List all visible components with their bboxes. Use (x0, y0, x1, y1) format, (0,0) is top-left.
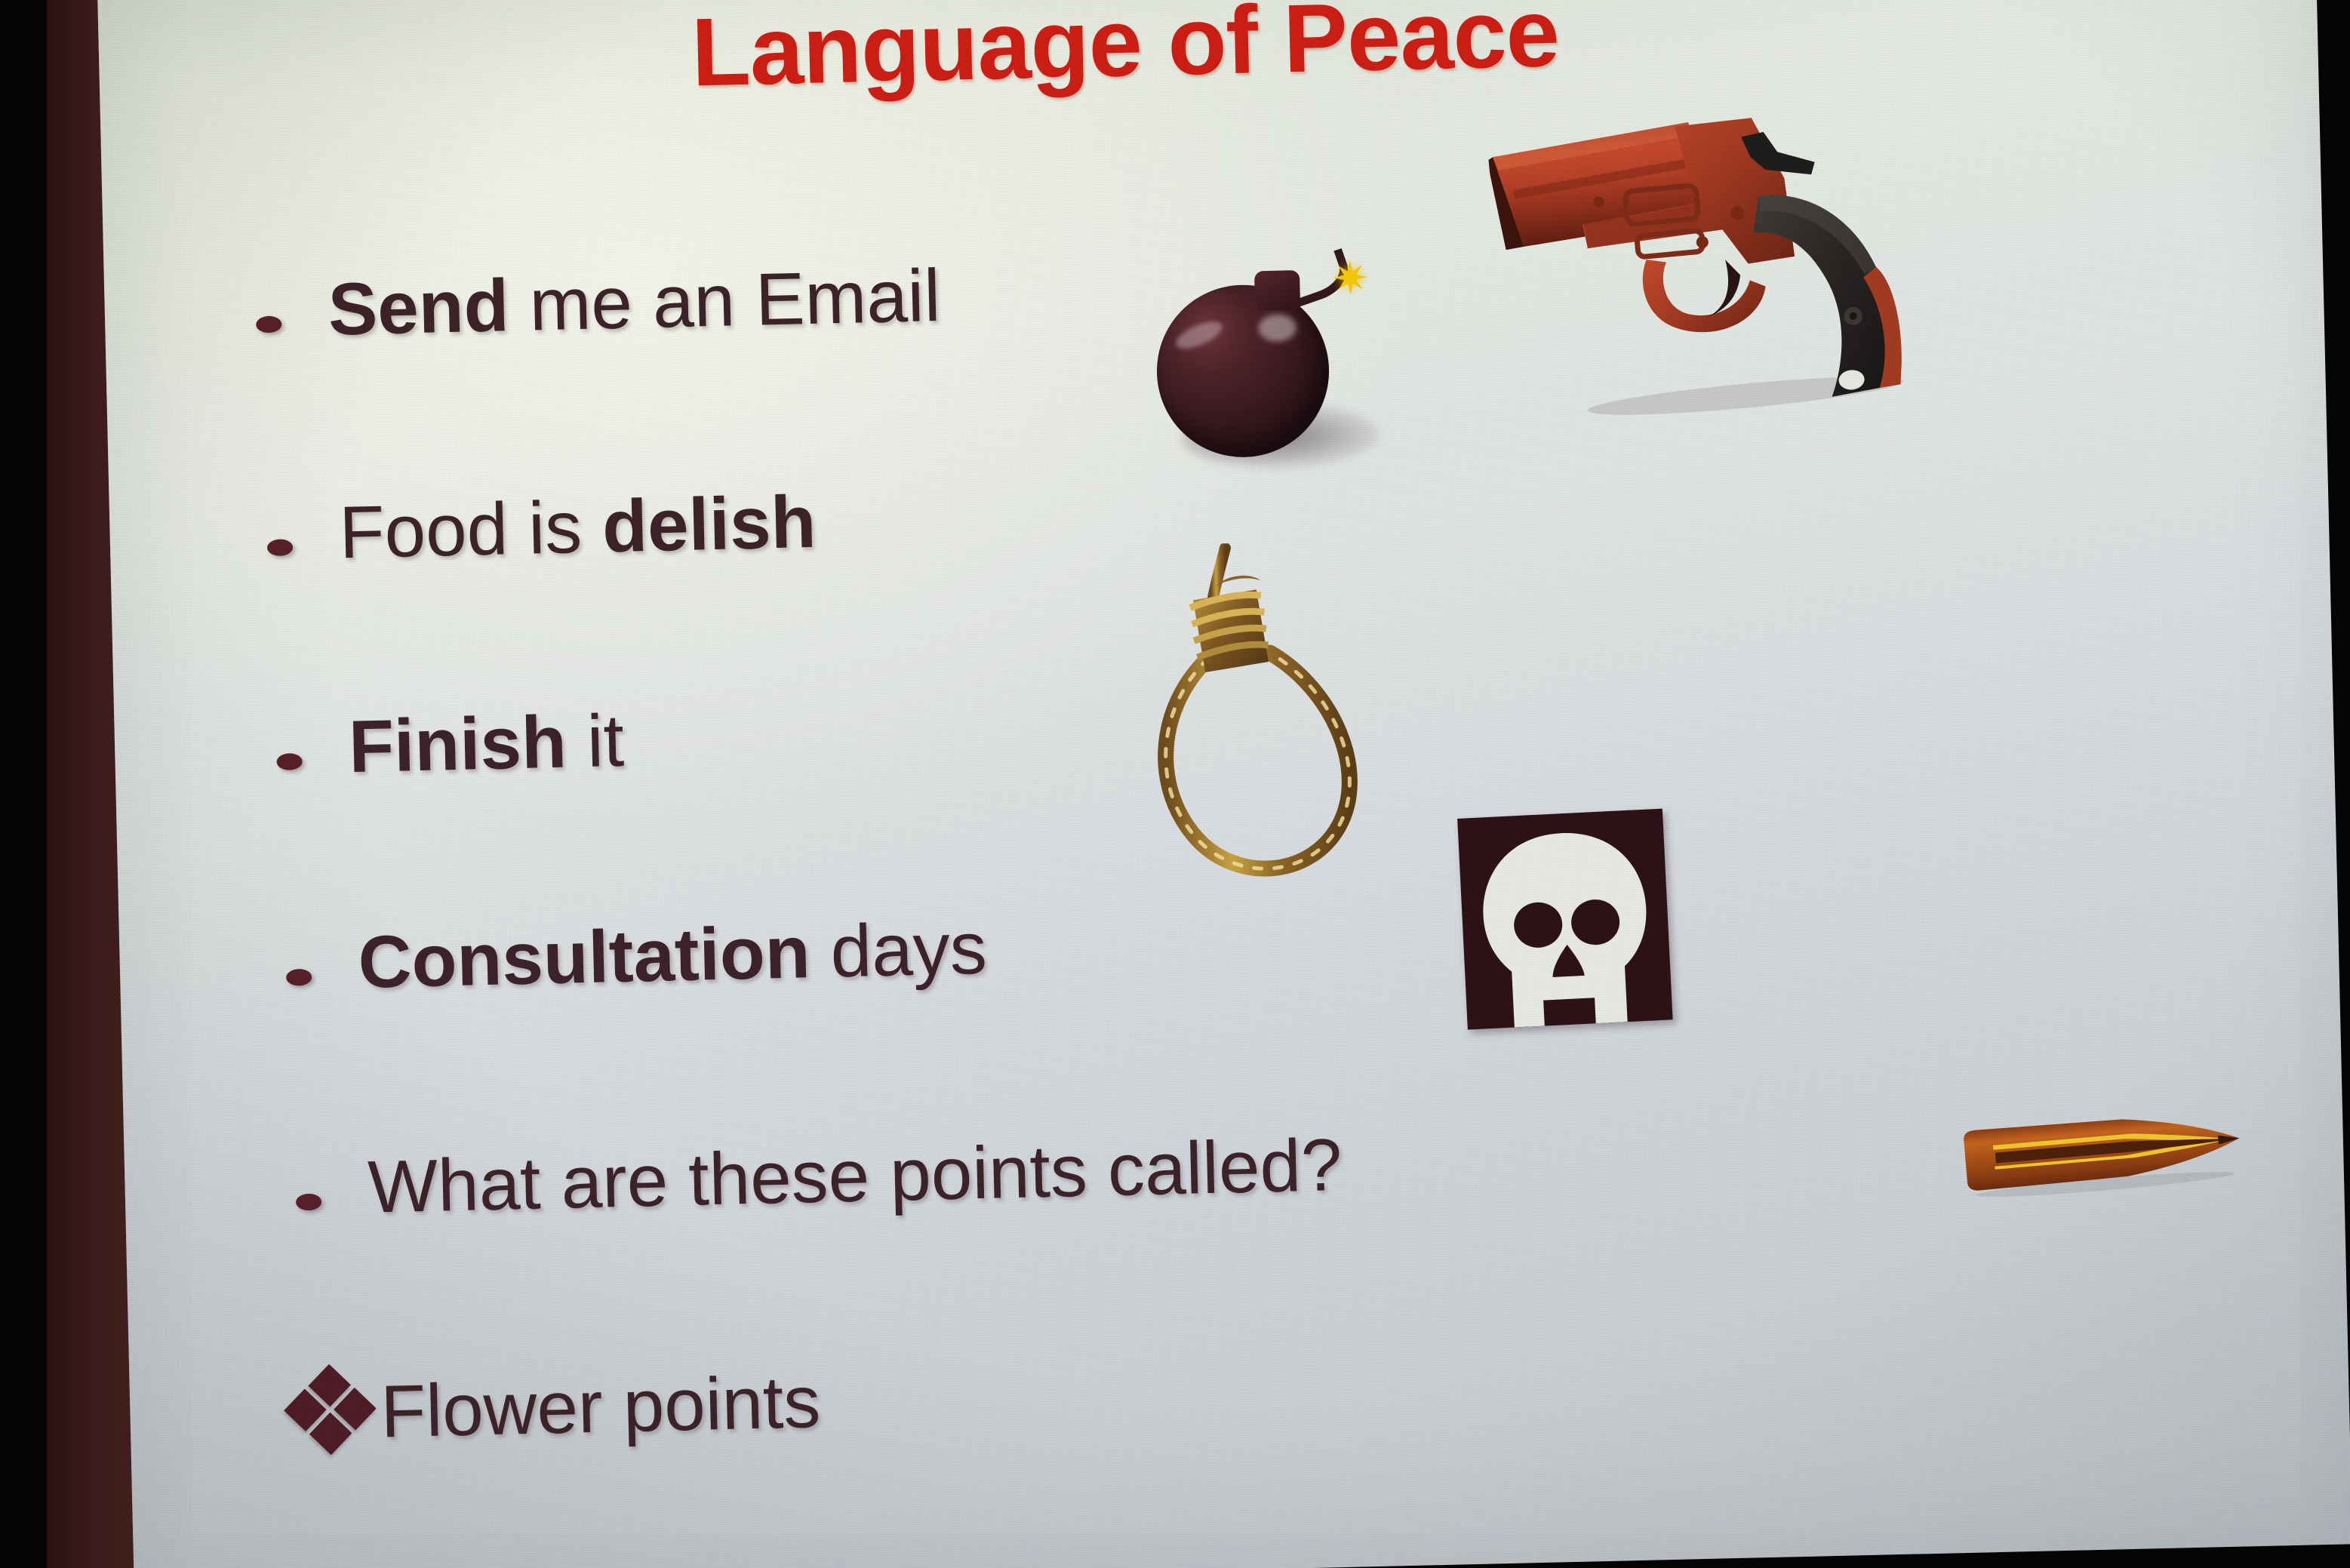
slide-canvas: Language of Peace Send me an Email Food … (97, 0, 2350, 1568)
bullet-regular-segment: me an Email (508, 254, 941, 346)
bullet-regular-segment: days (809, 906, 988, 993)
bullet-bold-segment: Consultation (357, 910, 811, 1004)
bomb-spark-icon: ✷ (1330, 258, 1371, 300)
projected-slide-photo: Language of Peace Send me an Email Food … (0, 0, 2350, 1568)
bullet-label: Send me an Email (328, 257, 942, 349)
bullet-list-item: Food is delish (266, 484, 817, 573)
bullet-label: What are these points called? (367, 1127, 1343, 1226)
bullet-list-item: Flower points (291, 1354, 821, 1453)
round-bullet-icon (275, 711, 349, 772)
bullet-regular-segment: What are these points called? (367, 1123, 1343, 1228)
bullet-bold-segment: delish (601, 480, 817, 567)
bullet-list-item: Finish it (275, 703, 625, 787)
flare-pistol-icon (1485, 82, 1950, 431)
bullet-list-item: What are these points called? (294, 1127, 1343, 1228)
bullet-list-item: Send me an Email (255, 257, 942, 350)
projection-screen: Language of Peace Send me an Email Food … (97, 0, 2350, 1568)
skull-icon (1457, 809, 1672, 1030)
bullet-regular-segment: it (565, 699, 625, 783)
bullet-list-item: Consultation days (285, 910, 988, 1003)
round-bullet-icon (285, 927, 359, 988)
round-bullet-icon (255, 274, 329, 335)
bullet-label: Flower points (380, 1364, 821, 1450)
bullet-regular-segment: Food is (338, 484, 603, 573)
bullet-bold-segment: Finish (348, 700, 568, 789)
round-bullet-icon (266, 497, 340, 558)
bullet-label: Food is delish (338, 484, 817, 571)
bullet-label: Consultation days (358, 910, 988, 1001)
bullet-label: Finish it (348, 703, 625, 786)
bullet-regular-segment: Flower points (380, 1360, 821, 1453)
bomb-icon: ✷ (1146, 253, 1400, 485)
bullet-projectile-icon (1952, 1099, 2252, 1204)
noose-icon (1140, 540, 1420, 900)
bullet-bold-segment: Send (328, 263, 510, 350)
floret-bullet-icon (291, 1364, 381, 1439)
round-bullet-icon (295, 1151, 369, 1213)
